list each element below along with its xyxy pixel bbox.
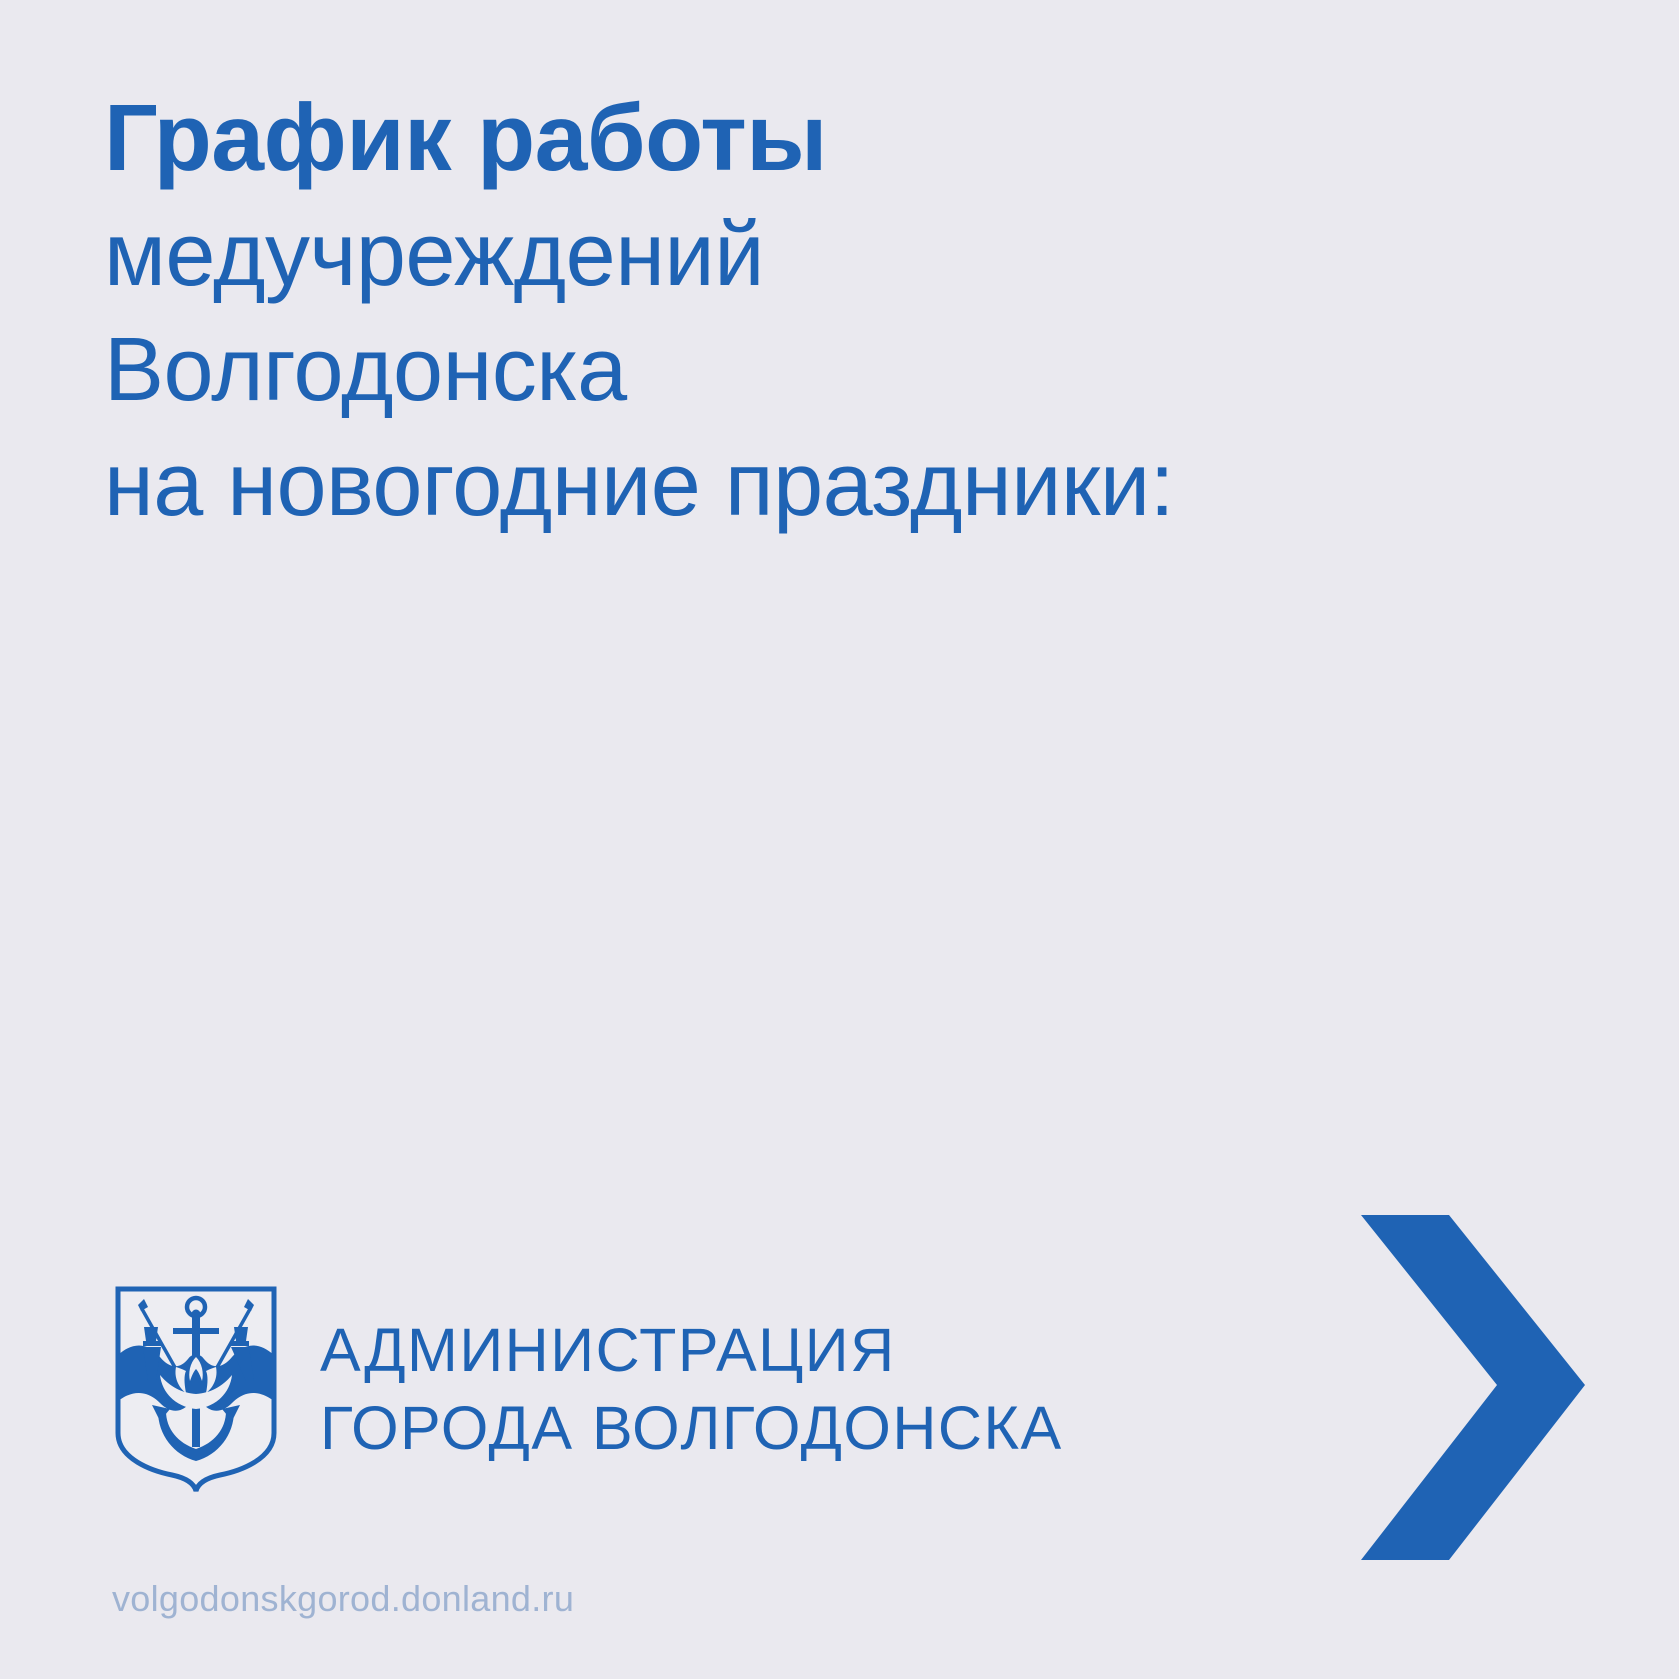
brand-line-1: АДМИНИСТРАЦИЯ — [320, 1311, 1063, 1389]
site-url[interactable]: volgodonskgorod.donland.ru — [112, 1578, 574, 1620]
chevron-right-icon — [1355, 1215, 1585, 1560]
volgodonsk-coat-of-arms-icon — [108, 1283, 284, 1495]
brand-line-2: ГОРОДА ВОЛГОДОНСКА — [320, 1389, 1063, 1467]
headline-line-1: График работы — [104, 82, 1604, 194]
headline-line-3: Волгодонска — [104, 313, 1604, 428]
page-title: График работы медучреждений Волгодонска … — [104, 82, 1604, 544]
brand-name: АДМИНИСТРАЦИЯ ГОРОДА ВОЛГОДОНСКА — [320, 1311, 1063, 1467]
headline-line-2: медучреждений — [104, 198, 1604, 313]
poster-canvas: График работы медучреждений Волгодонска … — [0, 0, 1679, 1679]
headline-line-4: на новогодние праздники: — [104, 428, 1604, 543]
brand-lockup: АДМИНИСТРАЦИЯ ГОРОДА ВОЛГОДОНСКА — [108, 1283, 1063, 1495]
